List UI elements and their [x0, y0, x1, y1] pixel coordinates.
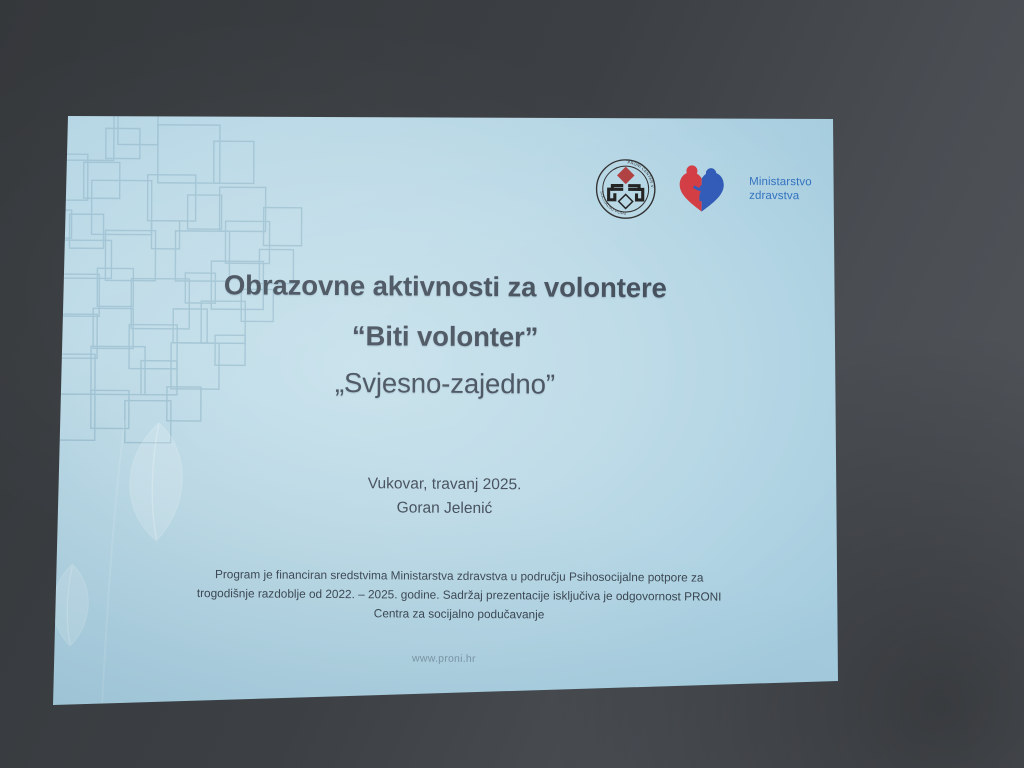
- ministry-wordmark-line1: Ministarstvo: [749, 176, 812, 190]
- logo-row: PRONI CENTAR VUKOVAR SOCIJALNO PODUCAVAN…: [595, 158, 812, 222]
- proni-seal-logo-icon: PRONI CENTAR VUKOVAR SOCIJALNO PODUCAVAN…: [595, 158, 657, 220]
- funding-disclaimer: Program je financiran sredstvima Minista…: [136, 565, 782, 627]
- slide-title-block: Obrazovne aktivnosti za volontere “Biti …: [49, 270, 841, 400]
- slide-title-line-3: „Svjesno-zajedno”: [49, 367, 841, 400]
- slide-title-line-1: Obrazovne aktivnosti za volontere: [49, 270, 841, 303]
- ministry-wordmark-line2: zdravstva: [749, 190, 812, 204]
- slide-website: www.proni.hr: [48, 650, 840, 668]
- slide-title-line-2: “Biti volonter”: [49, 319, 841, 352]
- ministry-of-health-wordmark: Ministarstvo zdravstva: [749, 176, 812, 204]
- ministry-of-health-logo-icon: [673, 160, 731, 218]
- projected-slide-quad: PRONI CENTAR VUKOVAR SOCIJALNO PODUCAVAN…: [0, 0, 1024, 768]
- slide-meta-block: Vukovar, travanj 2025. Goran Jelenić: [48, 470, 840, 524]
- slide-surface: PRONI CENTAR VUKOVAR SOCIJALNO PODUCAVAN…: [48, 112, 842, 716]
- leaf-decoration: [48, 412, 269, 714]
- projection-scene: PRONI CENTAR VUKOVAR SOCIJALNO PODUCAVAN…: [0, 0, 1024, 768]
- slide-author: Goran Jelenić: [48, 494, 840, 524]
